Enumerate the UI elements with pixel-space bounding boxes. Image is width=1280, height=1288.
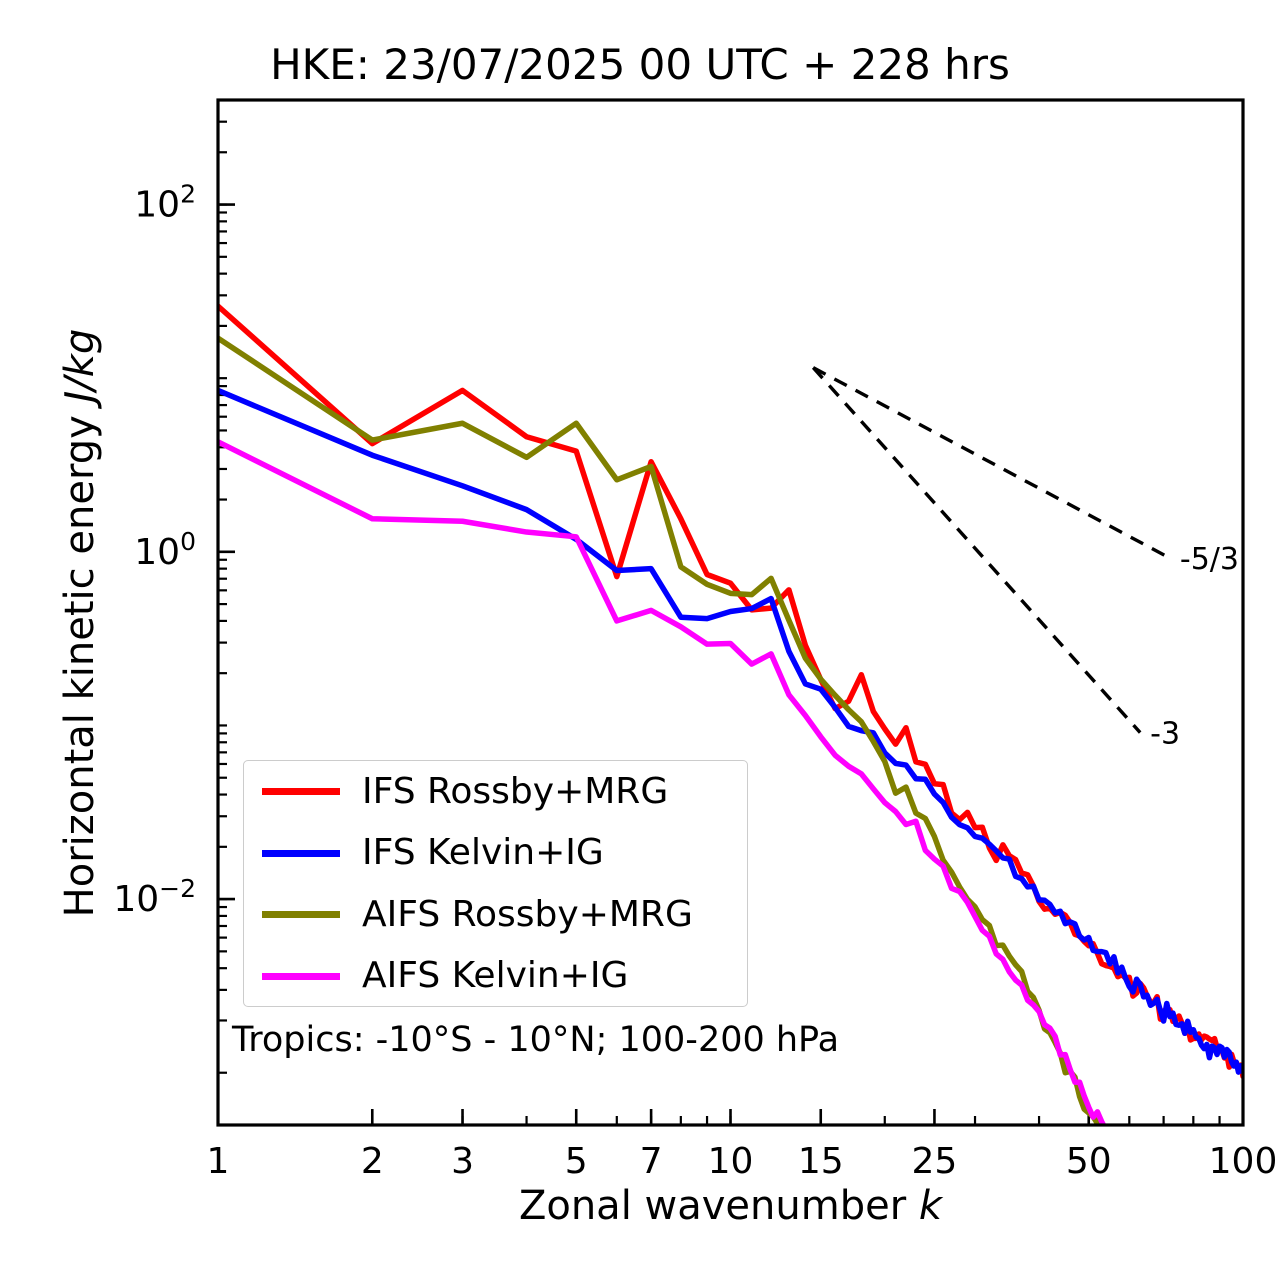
y-axis-label: Horizontal kinetic energy J/kg [57,273,103,973]
y-tick-label: 10−2 [113,874,196,921]
y-tick-label: 100 [134,526,196,573]
legend-item-label: AIFS Rossby+MRG [362,897,693,933]
reference-label-53: -5/3 [1180,542,1239,577]
legend-item[interactable]: IFS Rossby+MRG [244,761,747,823]
legend-item-label: IFS Kelvin+IG [362,835,604,871]
legend: IFS Rossby+MRGIFS Kelvin+IGAIFS Rossby+M… [243,760,748,1007]
reference-label-3: -3 [1150,717,1180,752]
reference-line-53 [813,368,1170,558]
y-axis-label-symbol: J/kg [57,329,103,403]
x-tick-label: 1 [207,1141,230,1182]
x-tick-label: 15 [798,1141,844,1182]
legend-item[interactable]: AIFS Kelvin+IG [244,946,747,1008]
x-tick-label: 7 [640,1141,663,1182]
legend-color-swatch [262,973,340,980]
x-tick-label: 10 [708,1141,754,1182]
legend-color-swatch [262,788,340,795]
legend-item-label: AIFS Kelvin+IG [362,958,628,994]
x-axis-label: Zonal wavenumber k [218,1183,1243,1229]
legend-item[interactable]: IFS Kelvin+IG [244,823,747,885]
x-tick-label: 5 [565,1141,588,1182]
x-tick-label: 50 [1066,1141,1112,1182]
x-tick-label: 3 [451,1141,474,1182]
legend-item-label: IFS Rossby+MRG [362,774,668,810]
x-tick-label: 25 [912,1141,958,1182]
y-axis-label-text: Horizontal kinetic energy [57,403,103,918]
x-tick-label: 100 [1209,1141,1278,1182]
x-tick-label: 2 [361,1141,384,1182]
x-axis-label-text: Zonal wavenumber [519,1183,919,1229]
x-axis-label-symbol: k [919,1183,942,1229]
legend-item[interactable]: AIFS Rossby+MRG [244,884,747,946]
region-annotation: Tropics: -10°S - 10°N; 100-200 hPa [232,1020,839,1060]
chart-figure: { "figure": { "title": "HKE: 23/07/2025 … [0,0,1280,1288]
legend-color-swatch [262,911,340,918]
chart-canvas: 123571015255010010210010−2-5/3-3 [0,0,1280,1288]
reference-slopes: -5/3-3 [813,368,1239,752]
y-tick-label: 102 [134,179,196,226]
legend-color-swatch [262,850,340,857]
